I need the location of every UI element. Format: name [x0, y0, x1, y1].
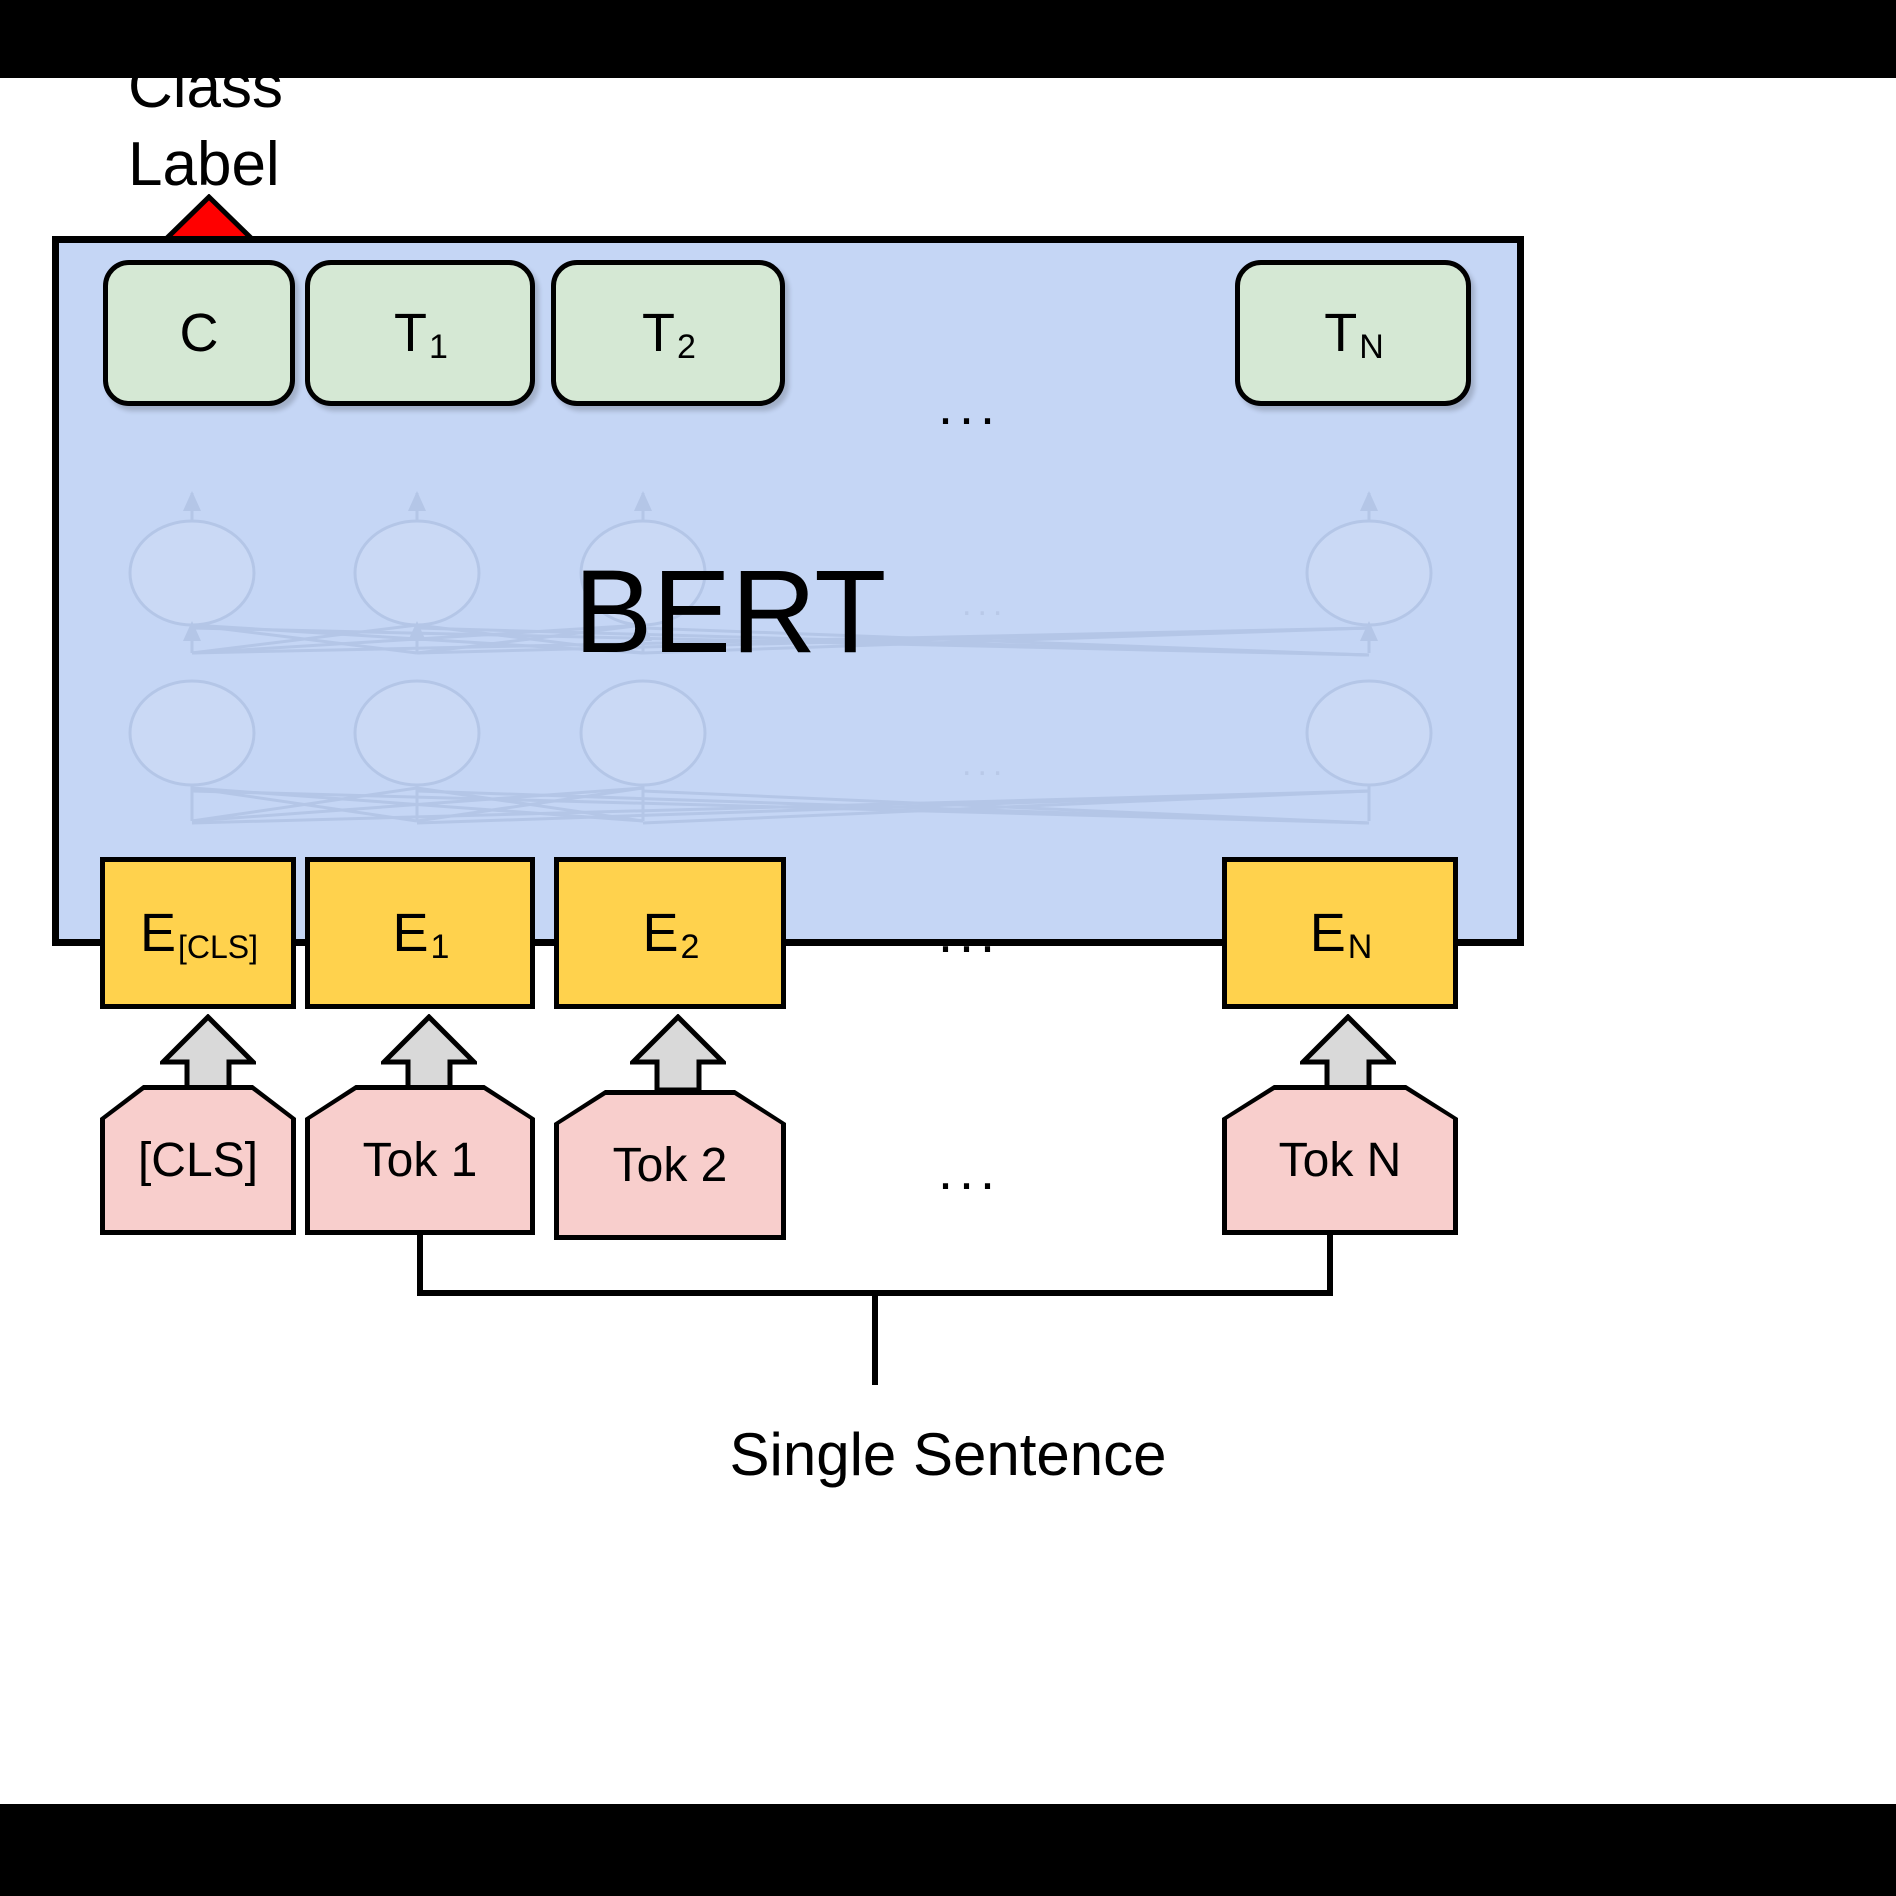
input-token-label: [CLS]	[138, 1133, 258, 1188]
input-arrow-icon-cls	[160, 1014, 256, 1092]
input-token-box-2: Tok 2	[554, 1090, 786, 1240]
input-token-label: Tok N	[1279, 1133, 1402, 1188]
embedding-label: E	[1310, 902, 1346, 964]
input-token-label: Tok 1	[363, 1133, 478, 1188]
embedding-subscript: N	[1348, 928, 1373, 967]
input-token-box-1: Tok 1	[305, 1085, 535, 1235]
output-token-label: T	[394, 302, 427, 364]
embedding-label: E	[140, 902, 176, 964]
bert-title: BERT	[59, 553, 1531, 671]
output-token-subscript: N	[1359, 328, 1384, 367]
single-sentence-label: Single Sentence	[0, 1420, 1896, 1489]
output-token-subscript: 2	[677, 328, 696, 367]
input-arrow-icon-n	[1300, 1014, 1396, 1092]
embedding-box-1: E1	[305, 857, 535, 1009]
output-row-ellipsis: ...	[938, 375, 1001, 437]
output-token-label: C	[180, 302, 219, 364]
embedding-row-ellipsis: ...	[938, 903, 1001, 965]
class-label-text: Class Label	[128, 48, 283, 204]
input-token-box-cls: [CLS]	[100, 1085, 296, 1235]
embedding-box-2: E2	[554, 857, 786, 1009]
network-ellipsis-lower: ...	[962, 745, 1008, 784]
output-token-box-t2: T2	[551, 260, 785, 406]
input-row-ellipsis: ...	[938, 1140, 1001, 1202]
output-token-box-tn: TN	[1235, 260, 1471, 406]
input-token-box-n: Tok N	[1222, 1085, 1458, 1235]
network-ellipsis-upper: ...	[962, 585, 1008, 624]
embedding-label: E	[643, 902, 679, 964]
input-arrow-icon-1	[381, 1014, 477, 1092]
output-token-box-c: C	[103, 260, 295, 406]
embedding-box-n: EN	[1222, 857, 1458, 1009]
output-token-label: T	[642, 302, 675, 364]
embedding-subscript: 1	[431, 928, 450, 967]
embedding-label: E	[393, 902, 429, 964]
output-token-box-t1: T1	[305, 260, 535, 406]
embedding-box-cls: E[CLS]	[100, 857, 296, 1009]
output-token-subscript: 1	[429, 328, 448, 367]
output-token-label: T	[1324, 302, 1357, 364]
embedding-subscript: [CLS]	[178, 929, 258, 966]
embedding-subscript: 2	[681, 928, 700, 967]
input-token-label: Tok 2	[613, 1138, 728, 1193]
input-arrow-icon-2	[630, 1014, 726, 1092]
sentence-bracket	[400, 1225, 1400, 1415]
diagram-canvas: Class Label	[0, 0, 1896, 1896]
